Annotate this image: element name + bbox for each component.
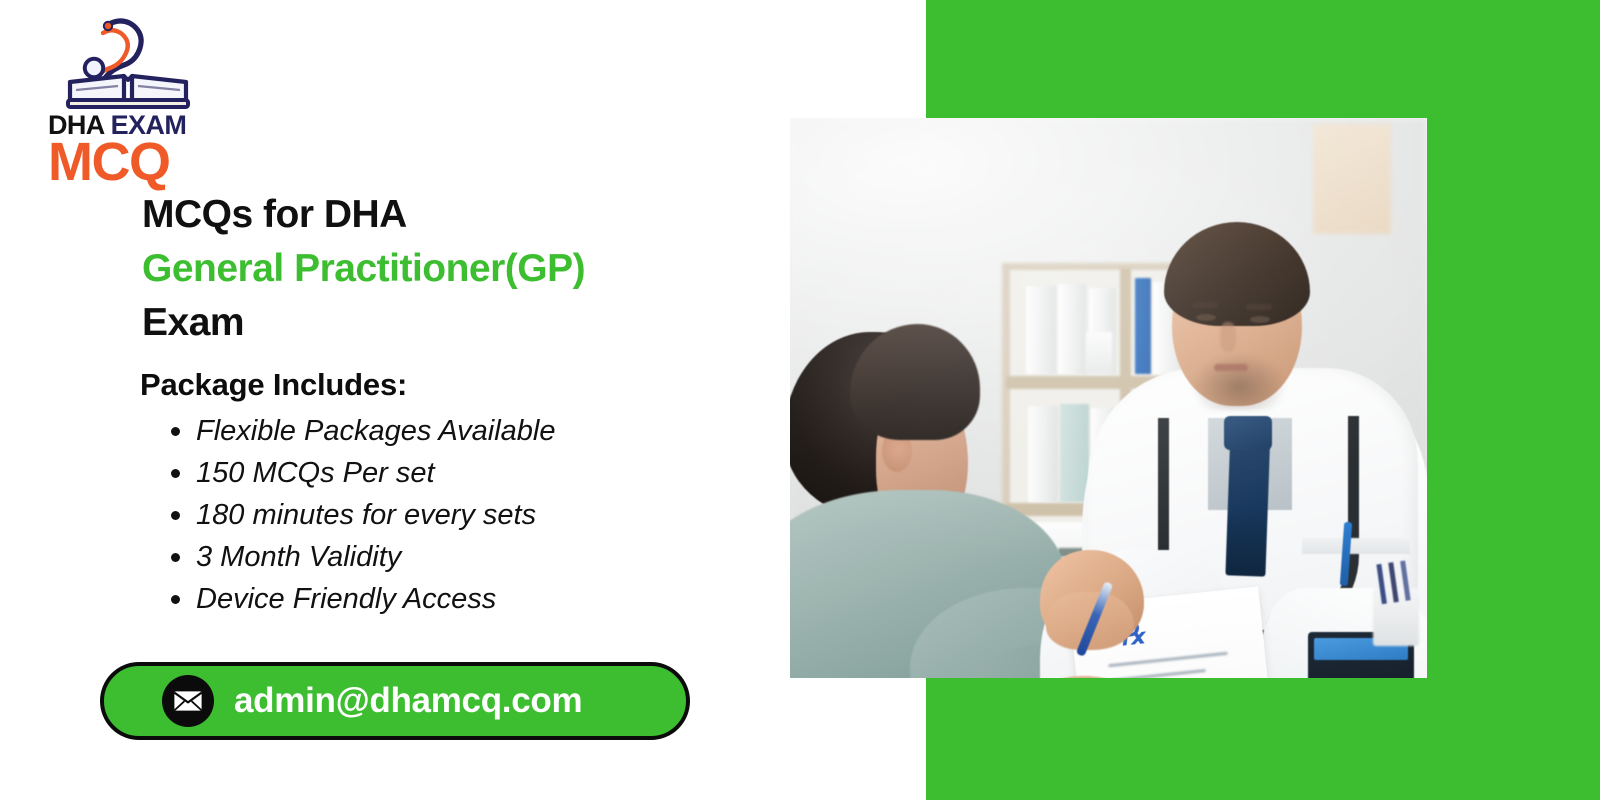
headline-line-2: General Practitioner(GP) [142,242,742,296]
green-accent-block-bottom [926,678,1600,800]
headline-line-3: Exam [142,296,742,350]
doctor-mouth [1214,364,1248,371]
file-binder [1135,278,1151,374]
shelf-container [1086,332,1112,374]
package-includes-heading: Package Includes: [140,367,407,403]
doctor-patient-photo: ℞ [790,118,1427,678]
doctor-nose [1220,322,1236,352]
file-binder [1026,286,1056,374]
file-binder [1058,284,1086,374]
list-item: Flexible Packages Available [196,410,555,452]
brand-wordmark-line-2: MCQ [48,137,238,188]
wall-poster [1313,124,1391,234]
doctor-beard [1184,332,1294,410]
headline-line-1: MCQs for DHA [142,188,742,242]
list-item: 3 Month Validity [196,536,555,578]
brand-logo[interactable]: DHA EXAM MCQ [48,14,238,188]
envelope-icon [162,675,214,727]
doctor-eyebrow [1192,302,1218,308]
email-contact-button[interactable]: admin@dhamcq.com [100,662,690,740]
list-item: 180 minutes for every sets [196,494,555,536]
list-item: 150 MCQs Per set [196,452,555,494]
email-address: admin@dhamcq.com [234,681,582,721]
pens-in-holder [1376,560,1415,604]
package-feature-list: Flexible Packages Available 150 MCQs Per… [150,410,555,620]
doctor-eye [1196,314,1216,321]
doctor-eye [1250,316,1270,323]
doctor-eyebrow [1246,304,1272,310]
coat-pocket [1302,538,1410,554]
file-binder [1028,406,1058,502]
promo-banner: ℞ [0,0,1600,800]
photo-scene: ℞ [790,118,1427,678]
stethoscope-book-icon [62,14,194,110]
list-item: Device Friendly Access [196,578,555,620]
page-title: MCQs for DHA General Practitioner(GP) Ex… [142,188,742,349]
